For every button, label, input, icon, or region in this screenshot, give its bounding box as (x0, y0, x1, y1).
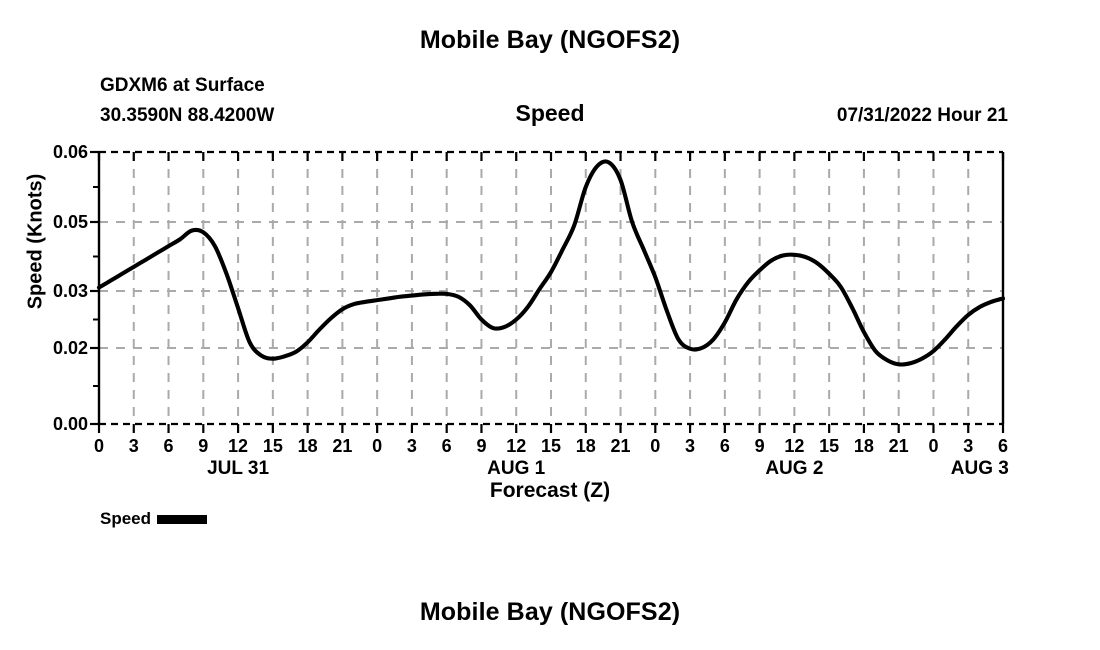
chart-title-bottom: Mobile Bay (NGOFS2) (0, 598, 1100, 627)
legend-label-speed: Speed (100, 509, 151, 529)
speed-time-series-plot (0, 0, 1100, 650)
legend-swatch-speed (157, 515, 207, 524)
chart-legend: Speed (100, 509, 207, 529)
